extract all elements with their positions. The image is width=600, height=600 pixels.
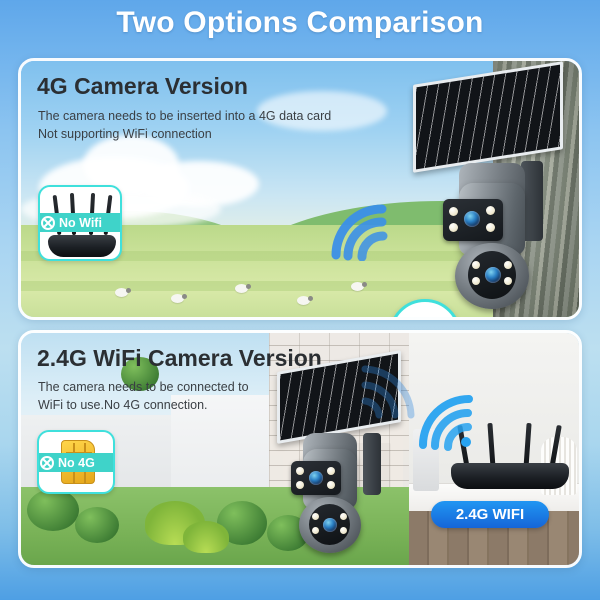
ptz-lens-face (309, 504, 350, 545)
camera-ptz-ball (299, 497, 361, 553)
no-wifi-label: No Wifi (59, 216, 102, 230)
router-body (48, 235, 116, 257)
no-wifi-card: No Wifi (38, 185, 122, 261)
led-light (472, 261, 480, 269)
camera-lens (309, 471, 323, 485)
camera-fixed-lens-module (443, 199, 503, 241)
wifi-signal-arcs (326, 199, 398, 261)
panel-4g-version: 4G Camera Version The camera needs to be… (18, 58, 582, 320)
router-body (451, 463, 569, 489)
wifi-signal-arcs-router (417, 395, 483, 451)
panel-wifi-version: 2.4G WiFi Camera Version The camera need… (18, 330, 582, 568)
wifi-standard-pill: 2.4G WIFI (431, 501, 549, 528)
sheep (297, 296, 310, 305)
no-4g-card: No 4G (37, 430, 115, 494)
camera-lens (485, 267, 501, 283)
solar-panel (413, 61, 563, 173)
no-wifi-badge: No Wifi (38, 213, 122, 232)
led-light (327, 481, 335, 489)
bush (75, 507, 119, 543)
camera-lens (323, 518, 337, 532)
sim-card-icon (409, 317, 441, 320)
led-light (472, 277, 480, 285)
led-light (312, 513, 319, 520)
sheep (115, 288, 128, 297)
led-light (340, 527, 347, 534)
camera-lens (464, 211, 480, 227)
camera-ptz-ball (455, 243, 529, 309)
led-light (449, 207, 458, 216)
led-light (504, 277, 512, 285)
prohibition-icon (40, 456, 54, 470)
wifi-signal-arcs-camera (357, 361, 417, 421)
window (217, 429, 277, 475)
led-light (504, 261, 512, 269)
ptz-lens-face (468, 251, 516, 299)
ornamental-grass (183, 521, 229, 553)
panel-description-wifi: The camera needs to be connected to WiFi… (38, 379, 249, 415)
sheep (351, 282, 364, 291)
wifi-pill-label: 2.4G WIFI (456, 506, 524, 523)
wall-mount-bracket (363, 433, 381, 495)
camera-fixed-lens-module (291, 461, 341, 495)
no-4g-label: No 4G (58, 456, 95, 470)
panel-description-4g: The camera needs to be inserted into a 4… (38, 108, 331, 144)
led-light (327, 467, 335, 475)
led-light (296, 467, 304, 475)
sheep (235, 284, 248, 293)
sheep (171, 294, 184, 303)
no-4g-badge: No 4G (37, 453, 115, 472)
bush (27, 489, 79, 531)
led-light (486, 206, 495, 215)
panel-heading-4g: 4G Camera Version (37, 73, 248, 100)
led-light (296, 481, 304, 489)
page-title: Two Options Comparison (0, 6, 600, 40)
solar-security-camera-4g (409, 65, 582, 315)
led-light (449, 223, 458, 232)
led-light (340, 513, 347, 520)
led-light (312, 527, 319, 534)
led-light (486, 223, 495, 232)
prohibition-icon (41, 216, 55, 230)
